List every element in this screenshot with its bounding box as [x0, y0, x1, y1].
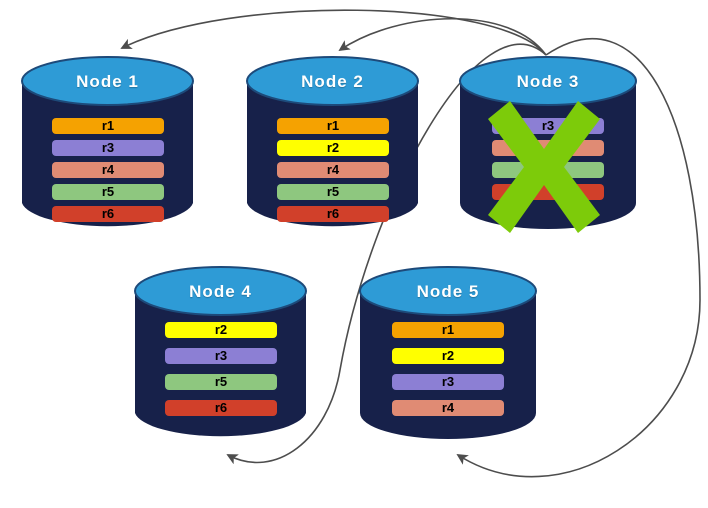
node-2-replica-4: r6 [277, 206, 389, 222]
node-1-replica-2: r4 [52, 162, 164, 178]
edge-node3-to-node1 [122, 10, 546, 55]
node-3-replica-2 [492, 162, 604, 178]
node-3[interactable]: Node 3 r3 [458, 55, 638, 237]
node-4-replica-3: r6 [165, 400, 277, 416]
node-4[interactable]: Node 4 r2 r3 r5 r6 [133, 265, 308, 447]
node-5-replica-1: r2 [392, 348, 504, 364]
node-2-replica-2: r4 [277, 162, 389, 178]
node-4-replica-2: r5 [165, 374, 277, 390]
node-1-replica-1: r3 [52, 140, 164, 156]
node-1[interactable]: Node 1 r1 r3 r4 r5 r6 [20, 55, 195, 237]
node-3-replica-0: r3 [492, 118, 604, 134]
node-3-replica-3 [492, 184, 604, 200]
node-2-replica-1: r2 [277, 140, 389, 156]
node-5-replica-0: r1 [392, 322, 504, 338]
node-2-replica-0: r1 [277, 118, 389, 134]
edge-node3-to-node2 [340, 19, 546, 55]
node-5[interactable]: Node 5 r1 r2 r3 r4 [358, 265, 538, 447]
node-4-replica-1: r3 [165, 348, 277, 364]
node-2[interactable]: Node 2 r1 r2 r4 r5 r6 [245, 55, 420, 237]
diagram-canvas: Node 1 r1 r3 r4 r5 r6 Node 2 r1 r2 r4 r5… [0, 0, 708, 508]
node-1-replica-0: r1 [52, 118, 164, 134]
node-1-replica-4: r6 [52, 206, 164, 222]
node-1-replica-3: r5 [52, 184, 164, 200]
node-3-replica-1 [492, 140, 604, 156]
node-4-replica-0: r2 [165, 322, 277, 338]
node-5-replica-2: r3 [392, 374, 504, 390]
node-2-replica-3: r5 [277, 184, 389, 200]
node-5-replica-3: r4 [392, 400, 504, 416]
